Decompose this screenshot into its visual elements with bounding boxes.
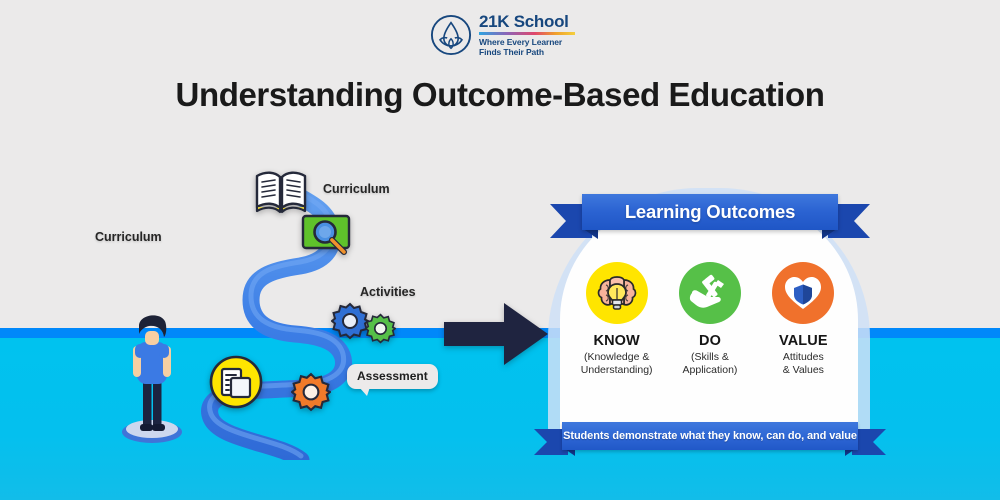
learning-journey-illustration: Curriculum Curriculum Activities Assessm… <box>95 150 475 460</box>
outcome-value-subtitle: Attitudes & Values <box>783 351 824 377</box>
footer-ribbon-banner: Students demonstrate what they know, can… <box>562 422 858 450</box>
brand-name: 21K School <box>479 13 575 31</box>
right-arrow-icon <box>444 301 548 367</box>
outcome-do[interactable]: DO (Skills & Application) <box>663 262 756 377</box>
brand-rule <box>479 32 575 35</box>
heart-shield-icon <box>781 271 825 315</box>
label-curriculum-top: Curriculum <box>323 182 390 196</box>
student-back-figure-icon <box>113 298 191 443</box>
learning-outcomes-card: Learning Outcomes <box>540 176 880 460</box>
outcome-know-subtitle-line-2: Understanding) <box>581 364 653 377</box>
card-title: Learning Outcomes <box>625 201 795 223</box>
outcome-value[interactable]: VALUE Attitudes & Values <box>757 262 850 377</box>
outcome-do-subtitle-line-2: Application) <box>683 364 738 377</box>
label-curriculum-left: Curriculum <box>95 230 162 244</box>
ribbon-banner: Learning Outcomes <box>582 194 838 230</box>
outcome-do-subtitle-line-1: (Skills & <box>683 351 738 364</box>
brand-tagline-line-1: Where Every Learner <box>479 37 575 47</box>
label-activities: Activities <box>360 285 416 299</box>
outcome-do-circle <box>679 262 741 324</box>
page-title: Understanding Outcome-Based Education <box>0 76 1000 114</box>
card-footer-text: Students demonstrate what they know, can… <box>563 430 857 442</box>
brand-logo-text: 21K School Where Every Learner Finds The… <box>479 13 575 58</box>
outcome-do-title: DO <box>699 333 721 349</box>
outcome-know-title: KNOW <box>594 333 640 349</box>
card-title-ribbon: Learning Outcomes <box>540 194 880 240</box>
hand-tools-icon <box>688 271 732 315</box>
open-book-icon <box>253 168 309 214</box>
outcome-know-subtitle-line-1: (Knowledge & <box>581 351 653 364</box>
outcome-value-subtitle-line-2: & Values <box>783 364 824 377</box>
outcome-know-subtitle: (Knowledge & Understanding) <box>581 351 653 377</box>
lotus-circle-icon <box>430 14 472 56</box>
outcome-know[interactable]: KNOW (Knowledge & Understanding) <box>570 262 663 377</box>
magnifier-board-icon <box>300 212 356 262</box>
card-footer-ribbon: Students demonstrate what they know, can… <box>534 422 886 460</box>
outcome-know-circle <box>586 262 648 324</box>
brand-logo[interactable]: 21K School Where Every Learner Finds The… <box>430 12 590 58</box>
brain-bulb-icon <box>594 270 640 316</box>
outcome-value-title: VALUE <box>779 333 828 349</box>
brand-tagline: Where Every Learner Finds Their Path <box>479 37 575 58</box>
document-list-icon <box>208 354 264 410</box>
outcomes-row: KNOW (Knowledge & Understanding) D <box>570 262 850 377</box>
brand-tagline-line-2: Finds Their Path <box>479 47 575 57</box>
gear-blue-icon <box>331 302 369 340</box>
gear-orange-icon <box>291 372 331 412</box>
gear-green-icon <box>365 313 396 344</box>
label-assessment-bubble: Assessment <box>347 364 438 389</box>
outcome-value-subtitle-line-1: Attitudes <box>783 351 824 364</box>
outcome-value-circle <box>772 262 834 324</box>
outcome-do-subtitle: (Skills & Application) <box>683 351 738 377</box>
infographic-canvas: 21K School Where Every Learner Finds The… <box>0 0 1000 500</box>
